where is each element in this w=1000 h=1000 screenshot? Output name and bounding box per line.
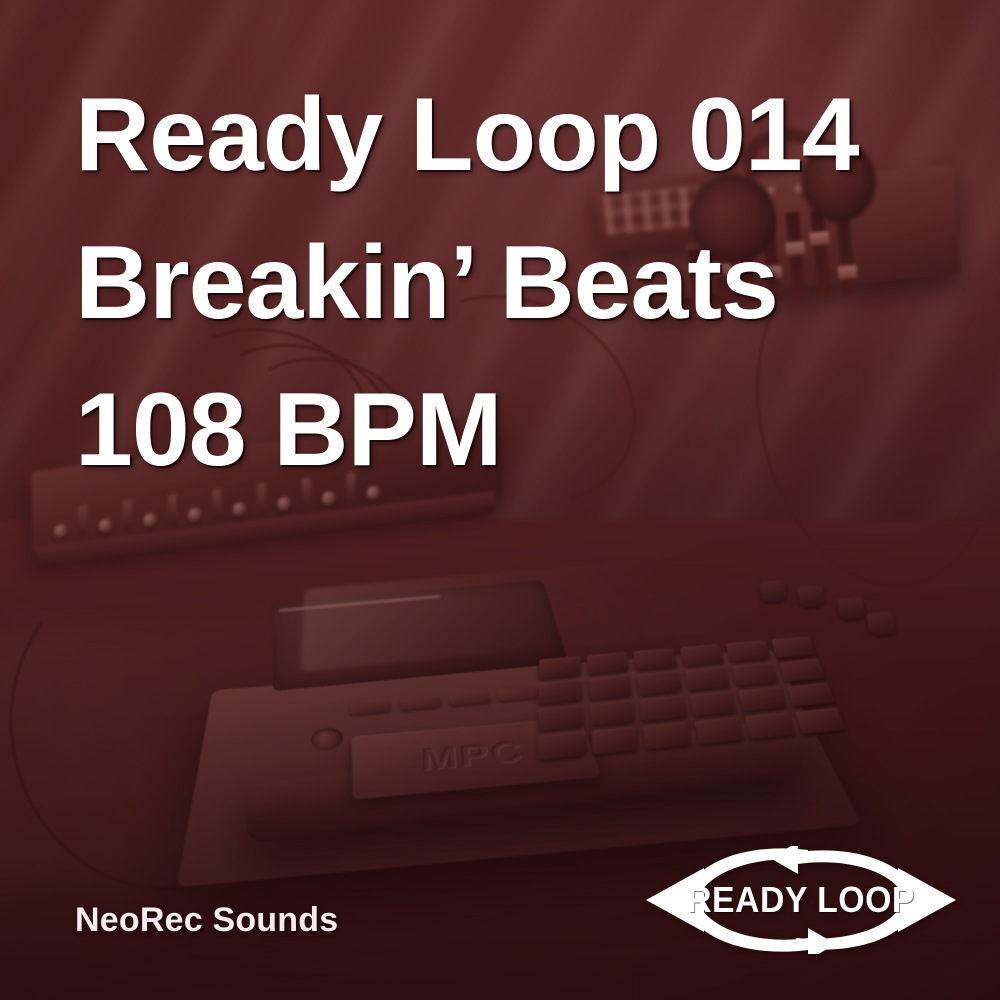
label-name: NeoRec Sounds	[75, 903, 338, 937]
title-block: Ready Loop 014 Breakin’ Beats 108 BPM	[75, 62, 955, 505]
title-line-tempo: 108 BPM	[75, 357, 955, 505]
loop-arrows-icon	[642, 846, 960, 954]
album-cover: MPC	[0, 0, 1000, 1000]
ready-loop-badge: READY LOOP	[642, 846, 960, 954]
title-line-pack: Ready Loop 014	[75, 62, 955, 210]
title-line-name: Breakin’ Beats	[75, 210, 955, 358]
